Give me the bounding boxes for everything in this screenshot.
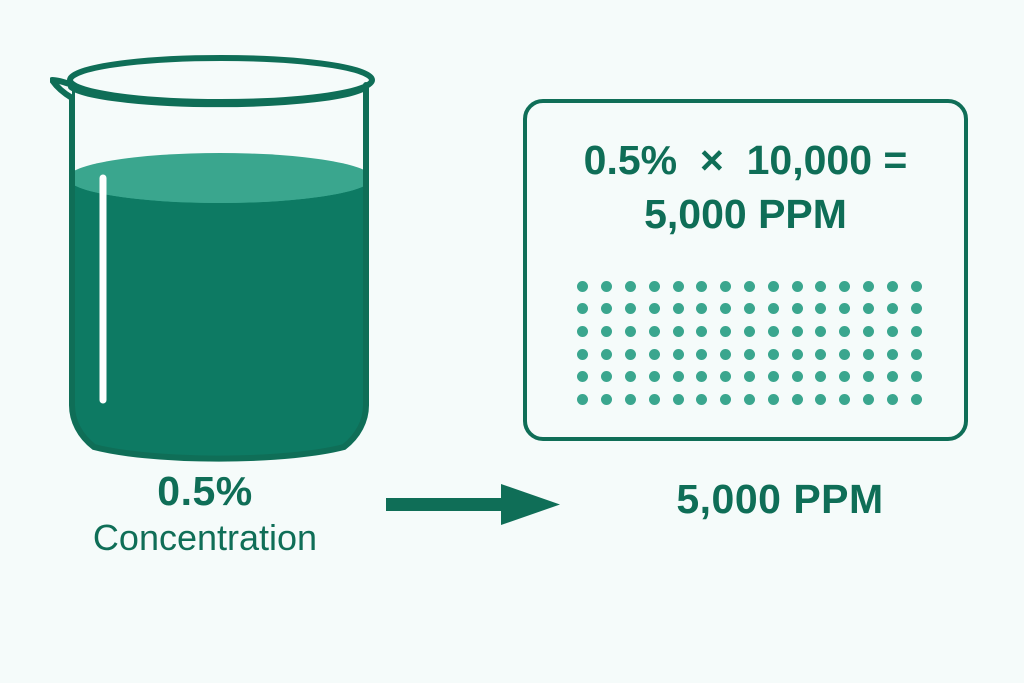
grid-dot [815, 303, 826, 314]
grid-dot [815, 371, 826, 382]
grid-dot [863, 349, 874, 360]
grid-dot [792, 303, 803, 314]
grid-dot [720, 371, 731, 382]
grid-dot [720, 281, 731, 292]
grid-dot [768, 371, 779, 382]
grid-dot [601, 394, 612, 405]
concentration-caption: Concentration [40, 517, 370, 558]
diagram-canvas: 0.5% Concentration 0.5% × 10,000 = 5,000… [0, 0, 1024, 683]
grid-dot [911, 371, 922, 382]
grid-dot [863, 394, 874, 405]
grid-dot [768, 281, 779, 292]
grid-dot [768, 394, 779, 405]
grid-dot [720, 326, 731, 337]
grid-dot [839, 326, 850, 337]
grid-dot [673, 303, 684, 314]
grid-dot [768, 326, 779, 337]
grid-dot [649, 326, 660, 337]
grid-dot [696, 303, 707, 314]
grid-dot [696, 394, 707, 405]
ppm-formula-panel: 0.5% × 10,000 = 5,000 PPM [523, 99, 968, 441]
grid-dot [792, 281, 803, 292]
concentration-label-group: 0.5% Concentration [40, 470, 370, 558]
grid-dot [839, 371, 850, 382]
grid-dot [744, 394, 755, 405]
grid-dot [625, 349, 636, 360]
grid-dot [601, 281, 612, 292]
grid-dot [768, 303, 779, 314]
grid-dot [887, 394, 898, 405]
grid-dot [601, 349, 612, 360]
grid-dot [815, 349, 826, 360]
grid-dot [911, 303, 922, 314]
grid-dot [839, 303, 850, 314]
grid-dot [863, 326, 874, 337]
grid-dot [577, 371, 588, 382]
grid-dot [839, 281, 850, 292]
grid-dot [768, 349, 779, 360]
grid-dot [911, 326, 922, 337]
grid-dot [815, 281, 826, 292]
concentration-value: 0.5% [40, 470, 370, 513]
grid-dot [815, 326, 826, 337]
formula-block: 0.5% × 10,000 = 5,000 PPM [527, 133, 964, 241]
liquid-surface-top [68, 153, 372, 203]
grid-dot [911, 349, 922, 360]
grid-dot [673, 326, 684, 337]
beaker-icon [50, 50, 390, 470]
grid-dot [625, 281, 636, 292]
grid-dot [792, 349, 803, 360]
grid-dot [696, 326, 707, 337]
grid-dot [792, 394, 803, 405]
grid-dot [744, 326, 755, 337]
grid-dot [720, 303, 731, 314]
beaker-illustration [50, 50, 390, 470]
grid-dot [887, 281, 898, 292]
arrow-head [501, 484, 560, 525]
grid-dot [696, 349, 707, 360]
grid-dot [577, 349, 588, 360]
formula-line-2: 5,000 PPM [527, 187, 964, 241]
grid-dot [601, 303, 612, 314]
grid-dot [744, 303, 755, 314]
grid-dot [696, 371, 707, 382]
grid-dot [625, 326, 636, 337]
grid-dot [744, 349, 755, 360]
grid-dot [887, 349, 898, 360]
grid-dot [720, 394, 731, 405]
grid-dot [601, 326, 612, 337]
grid-dot [649, 394, 660, 405]
grid-dot [673, 349, 684, 360]
grid-dot [887, 303, 898, 314]
arrow-shaft [386, 498, 508, 511]
grid-dot [649, 371, 660, 382]
formula-line-1: 0.5% × 10,000 = [527, 133, 964, 187]
grid-dot [863, 303, 874, 314]
right-arrow-icon [380, 476, 570, 532]
conversion-arrow [380, 476, 570, 532]
grid-dot [744, 371, 755, 382]
grid-dot [887, 371, 898, 382]
grid-dot [577, 326, 588, 337]
grid-dot [625, 303, 636, 314]
grid-dot [577, 394, 588, 405]
grid-dot [792, 326, 803, 337]
grid-dot [696, 281, 707, 292]
grid-dot [625, 371, 636, 382]
grid-dot [649, 349, 660, 360]
grid-dot [863, 371, 874, 382]
beaker-rim-inner [71, 87, 366, 104]
grid-dot [649, 303, 660, 314]
grid-dot [601, 371, 612, 382]
grid-dot [792, 371, 803, 382]
grid-dot [911, 281, 922, 292]
grid-dot [673, 371, 684, 382]
grid-dot [720, 349, 731, 360]
liquid-body [68, 178, 372, 458]
grid-dot [887, 326, 898, 337]
grid-dot [839, 394, 850, 405]
grid-dot [911, 394, 922, 405]
grid-dot [839, 349, 850, 360]
beaker-liquid [68, 153, 372, 458]
grid-dot [744, 281, 755, 292]
ppm-dot-grid [571, 275, 928, 411]
grid-dot [625, 394, 636, 405]
grid-dot [577, 281, 588, 292]
grid-dot [649, 281, 660, 292]
grid-dot [577, 303, 588, 314]
grid-dot [673, 281, 684, 292]
grid-dot [673, 394, 684, 405]
grid-dot [815, 394, 826, 405]
grid-dot [863, 281, 874, 292]
ppm-result-value: 5,000 PPM [590, 476, 970, 523]
